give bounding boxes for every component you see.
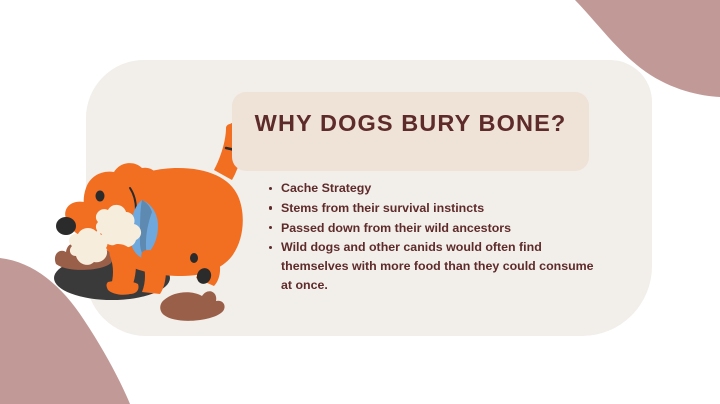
dog-hind-paw-toe: [190, 253, 198, 263]
page-title: WHY DOGS BURY BONE?: [232, 110, 589, 137]
slide-canvas: WHY DOGS BURY BONE? Cache Strategy Stems…: [0, 0, 720, 404]
list-item: Cache Strategy: [268, 179, 608, 198]
dirt-splat-bottom: [160, 291, 224, 321]
dog-eye: [96, 191, 105, 202]
list-item: Passed down from their wild ancestors: [268, 219, 608, 238]
list-item: Stems from their survival instincts: [268, 199, 608, 218]
list-item: Wild dogs and other canids would often f…: [268, 238, 608, 294]
dog-nose: [56, 217, 76, 235]
bullet-list: Cache Strategy Stems from their survival…: [268, 179, 608, 295]
